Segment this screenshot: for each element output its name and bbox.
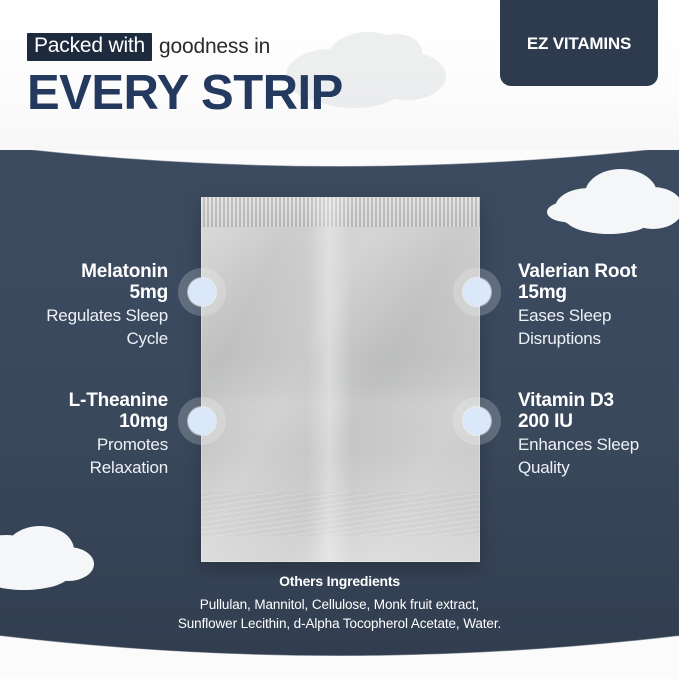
headline-block: Packed with goodness in EVERY STRIP	[27, 32, 343, 118]
ingredient-l-theanine: L-Theanine 10mg Promotes Relaxation	[0, 390, 168, 478]
panel-content: Melatonin 5mg Regulates Sleep Cycle Vale…	[0, 128, 679, 663]
headline-main: EVERY STRIP	[27, 68, 343, 118]
marker-melatonin[interactable]	[178, 268, 226, 316]
marker-dot-icon	[463, 278, 491, 306]
ingredient-dose: 200 IU	[518, 411, 679, 432]
header-section: Packed with goodness in EVERY STRIP EZ V…	[0, 0, 679, 150]
ingredient-benefit-line1: Enhances Sleep	[518, 434, 679, 455]
other-ingredients-title: Others Ingredients	[0, 573, 679, 590]
brand-badge: EZ VITAMINS	[500, 0, 658, 86]
headline-kicker-highlight: Packed with	[27, 33, 152, 61]
ingredient-name: Valerian Root	[518, 261, 679, 282]
marker-dot-icon	[188, 278, 216, 306]
cloud-right-icon	[537, 156, 679, 240]
ingredient-dose: 10mg	[0, 411, 168, 432]
ingredient-benefit-line1: Regulates Sleep	[0, 305, 168, 326]
product-infographic: Packed with goodness in EVERY STRIP EZ V…	[0, 0, 679, 679]
ingredient-dose: 15mg	[518, 282, 679, 303]
headline-kicker-rest: goodness in	[152, 37, 270, 57]
ingredient-benefit-line2: Quality	[518, 457, 679, 478]
other-ingredients-line2: Sunflower Lecithin, d-Alpha Tocopherol A…	[0, 614, 679, 633]
ingredient-valerian-root: Valerian Root 15mg Eases Sleep Disruptio…	[518, 261, 679, 349]
ingredients-panel: Melatonin 5mg Regulates Sleep Cycle Vale…	[0, 128, 679, 663]
marker-vitamin-d3[interactable]	[453, 397, 501, 445]
headline-kicker: Packed with goodness in	[27, 32, 343, 62]
ingredient-melatonin: Melatonin 5mg Regulates Sleep Cycle	[0, 261, 168, 349]
ingredient-benefit-line2: Relaxation	[0, 457, 168, 478]
marker-dot-icon	[188, 407, 216, 435]
ingredient-name: Melatonin	[0, 261, 168, 282]
ingredient-benefit-line1: Eases Sleep	[518, 305, 679, 326]
ingredient-name: L-Theanine	[0, 390, 168, 411]
ingredient-name: Vitamin D3	[518, 390, 679, 411]
other-ingredients-list: Pullulan, Mannitol, Cellulose, Monk frui…	[0, 595, 679, 633]
other-ingredients-line1: Pullulan, Mannitol, Cellulose, Monk frui…	[0, 595, 679, 614]
other-ingredients-block: Others Ingredients Pullulan, Mannitol, C…	[0, 573, 679, 633]
marker-dot-icon	[463, 407, 491, 435]
sachet-highlight-horizontal	[201, 358, 480, 453]
ingredient-benefit-line2: Cycle	[0, 328, 168, 349]
ingredient-benefit-line1: Promotes	[0, 434, 168, 455]
ingredient-vitamin-d3: Vitamin D3 200 IU Enhances Sleep Quality	[518, 390, 679, 478]
product-sachet-image	[201, 197, 480, 562]
sachet-crease	[201, 492, 480, 536]
marker-l-theanine[interactable]	[178, 397, 226, 445]
ingredient-dose: 5mg	[0, 282, 168, 303]
ingredient-benefit-line2: Disruptions	[518, 328, 679, 349]
brand-badge-label: EZ VITAMINS	[527, 20, 631, 54]
marker-valerian-root[interactable]	[453, 268, 501, 316]
